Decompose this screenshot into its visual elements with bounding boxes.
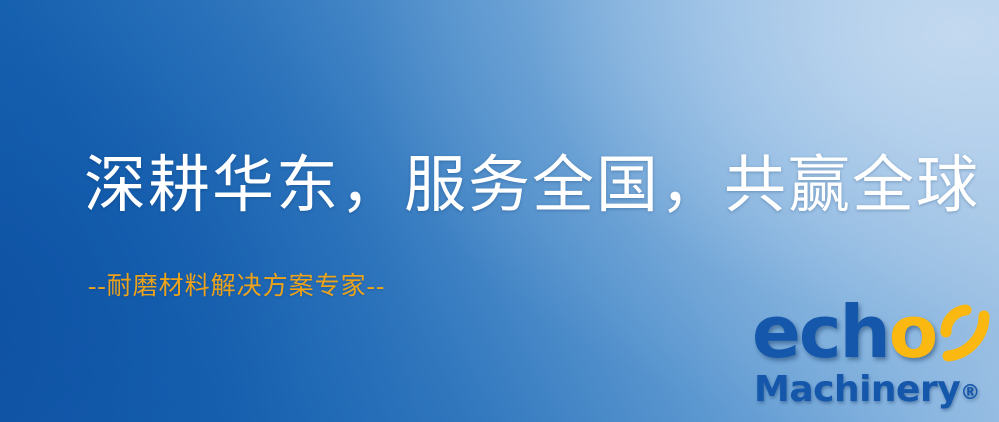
- hero-banner: 深耕华东，服务全国，共赢全球 --耐磨材料解决方案专家-- echo Machi…: [0, 0, 999, 422]
- logo-wordmark-o: o: [889, 290, 936, 374]
- logo-wordmark: echo: [752, 296, 936, 368]
- logo-wordmark-ech: ech: [752, 290, 889, 374]
- logo-tagline-text: Machinery: [754, 369, 960, 410]
- logo-tagline: Machinery®: [754, 372, 980, 408]
- company-logo: echo Machinery®: [752, 296, 999, 422]
- registered-trademark-mark: ®: [960, 380, 980, 404]
- banner-headline: 深耕华东，服务全国，共赢全球: [84, 152, 980, 221]
- banner-subtitle: --耐磨材料解决方案专家--: [88, 266, 385, 302]
